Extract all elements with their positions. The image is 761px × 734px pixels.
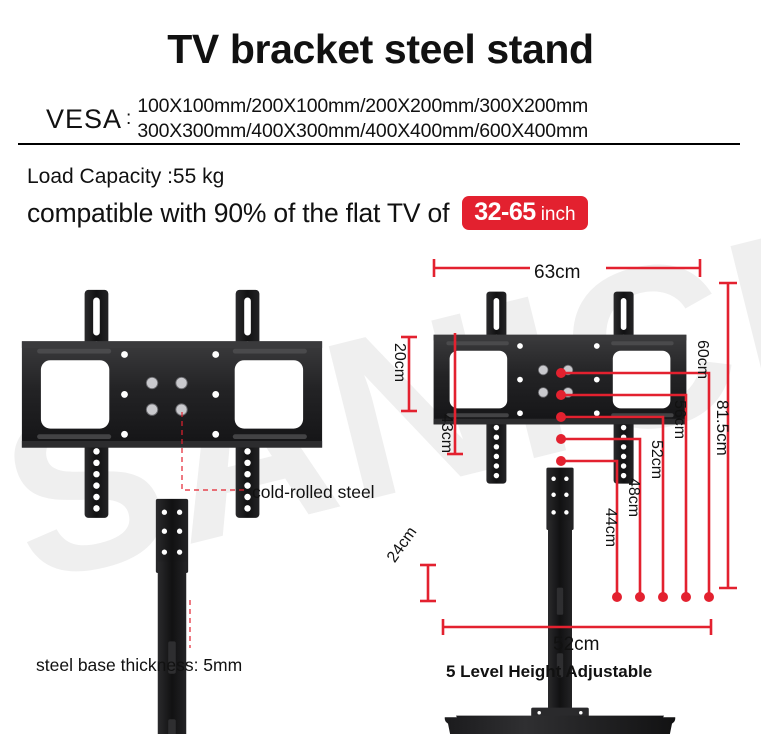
- compatibility-text: compatible with 90% of the flat TV of: [27, 198, 449, 229]
- vesa-label: VESA: [18, 104, 122, 135]
- vesa-values: 100X100mm/200X100mm/200X200mm/300X200mm …: [137, 94, 588, 144]
- callout-base-thickness: steel base thickness: 5mm: [36, 655, 242, 676]
- vesa-line-2: 300X300mm/400X300mm/400X400mm/600X400mm: [137, 119, 588, 144]
- vesa-line-1: 100X100mm/200X100mm/200X200mm/300X200mm: [137, 94, 588, 119]
- height-level-52: 52cm: [647, 440, 665, 479]
- right-figure-caption: 5 Level Height Adjustable: [446, 662, 652, 682]
- dimension-top-width: 63cm: [534, 262, 580, 284]
- callout-cold-rolled-steel: cold-rolled steel: [252, 482, 375, 503]
- height-level-56: 56cm: [670, 400, 688, 439]
- size-badge-range: 32-65: [474, 200, 535, 225]
- brand-watermark: SANICE: [0, 211, 761, 618]
- size-badge-unit: inch: [541, 205, 576, 224]
- page-title: TV bracket steel stand: [0, 26, 761, 73]
- dimension-base-depth: 24cm: [384, 524, 421, 566]
- dimension-arm-height: 43cm: [437, 414, 455, 453]
- compatibility-row: compatible with 90% of the flat TV of 32…: [27, 196, 588, 230]
- size-badge: 32-65 inch: [462, 196, 587, 230]
- dimension-total-height: 81.5cm: [712, 400, 732, 456]
- height-level-48: 48cm: [624, 478, 642, 517]
- height-level-44: 44cm: [601, 508, 619, 547]
- vesa-colon: :: [122, 108, 137, 130]
- dimension-bracket-height: 20cm: [390, 343, 408, 382]
- left-callout-leaders: [182, 412, 244, 648]
- dimension-base-width: 52cm: [553, 634, 599, 656]
- vesa-divider: [18, 143, 740, 145]
- load-capacity-text: Load Capacity :55 kg: [27, 165, 224, 189]
- vesa-spec-block: VESA : 100X100mm/200X100mm/200X200mm/300…: [18, 94, 740, 144]
- height-level-60: 60cm: [693, 340, 711, 379]
